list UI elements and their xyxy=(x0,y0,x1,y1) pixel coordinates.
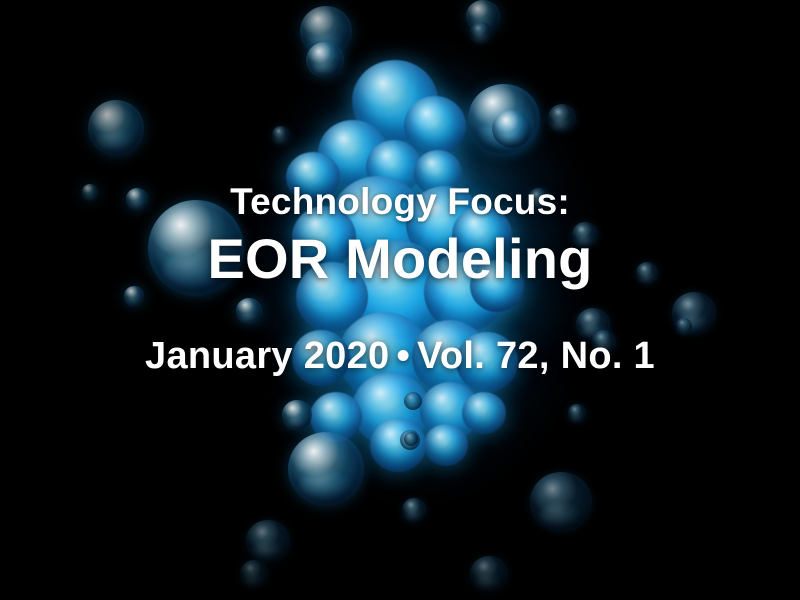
floating-bubble xyxy=(288,432,364,506)
floating-bubble xyxy=(592,330,616,354)
cluster-blob xyxy=(292,206,356,268)
magazine-cover: Technology Focus: EOR Modeling January 2… xyxy=(0,0,800,600)
floating-bubble xyxy=(246,520,290,562)
floating-bubble xyxy=(528,188,550,210)
floating-bubble xyxy=(676,318,692,334)
floating-bubble xyxy=(572,222,598,248)
floating-bubble xyxy=(240,560,268,588)
floating-bubble xyxy=(636,262,658,284)
floating-bubble xyxy=(88,100,144,156)
cluster-blob xyxy=(424,424,468,466)
floating-bubble xyxy=(470,556,508,592)
floating-bubble xyxy=(470,22,492,44)
floating-bubble xyxy=(282,400,312,430)
cluster-blob xyxy=(292,330,350,386)
floating-bubble xyxy=(492,110,532,148)
cluster-blob xyxy=(456,332,518,392)
floating-bubble xyxy=(404,392,422,410)
floating-bubble xyxy=(124,286,144,306)
floating-bubble xyxy=(148,200,244,296)
floating-bubble xyxy=(306,42,344,78)
floating-bubble xyxy=(568,404,586,422)
bubble-artwork xyxy=(0,0,800,600)
cluster-blob xyxy=(470,260,524,312)
floating-bubble xyxy=(402,498,426,522)
floating-bubble xyxy=(530,472,592,532)
floating-bubble xyxy=(404,432,418,446)
floating-bubble xyxy=(82,184,98,200)
floating-bubble xyxy=(126,188,148,210)
cluster-blob xyxy=(462,392,506,434)
floating-bubble xyxy=(236,298,262,324)
cluster-blob xyxy=(286,152,340,202)
floating-bubble xyxy=(272,126,290,144)
floating-bubble xyxy=(548,104,576,132)
